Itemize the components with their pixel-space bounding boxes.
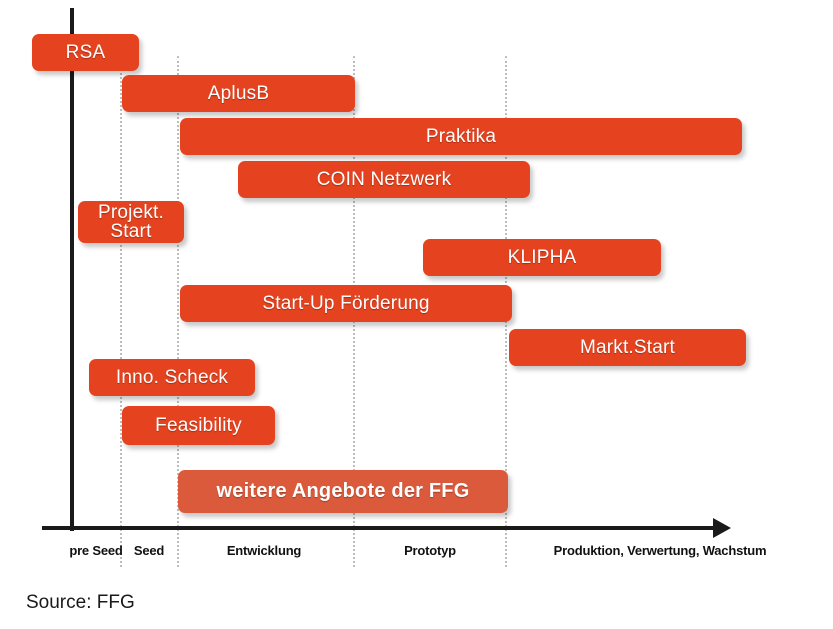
bar-rsa[interactable]: RSA — [32, 34, 139, 71]
bar-label: Feasibility — [149, 416, 248, 435]
bar-markt-start[interactable]: Markt.Start — [509, 329, 746, 366]
tick-text: Seed — [134, 543, 164, 558]
bar-inno-scheck[interactable]: Inno. Scheck — [89, 359, 255, 396]
x-tick-label-entwicklung: Entwicklung — [184, 543, 344, 558]
bar-klipha[interactable]: KLIPHA — [423, 239, 661, 276]
x-tick-label-produktion-verwertung-wachstum: Produktion, Verwertung, Wachstum — [530, 543, 790, 558]
bar-label: COIN Netzwerk — [311, 170, 458, 189]
bar-label: Praktika — [420, 127, 502, 146]
bar-label: RSA — [60, 43, 112, 62]
bar-label: AplusB — [202, 84, 275, 103]
source-caption: Source: FFG — [26, 592, 135, 614]
tick-text: Entwicklung — [227, 543, 301, 558]
bar-feasibility[interactable]: Feasibility — [122, 406, 275, 445]
chart-plot-area: RSA AplusB Praktika COIN Netzwerk Projek… — [0, 0, 833, 575]
source-caption-text: Source: FFG — [26, 592, 135, 613]
bar-label: KLIPHA — [502, 248, 583, 267]
bar-label: Projekt. Start — [92, 203, 170, 242]
bar-praktika[interactable]: Praktika — [180, 118, 742, 155]
tick-text: Produktion, Verwertung, Wachstum — [554, 543, 767, 558]
bar-aplusb[interactable]: AplusB — [122, 75, 355, 112]
x-tick-label-seed: Seed — [109, 543, 189, 558]
bar-label: weitere Angebote der FFG — [211, 481, 476, 501]
bar-projekt-start[interactable]: Projekt. Start — [78, 201, 184, 243]
bar-coin-netzwerk[interactable]: COIN Netzwerk — [238, 161, 530, 198]
bar-label: Markt.Start — [574, 338, 681, 357]
x-axis-arrow-icon — [713, 518, 731, 538]
bar-label: Start-Up Förderung — [256, 294, 435, 313]
bar-label: Inno. Scheck — [110, 368, 234, 387]
x-axis-line — [42, 526, 722, 530]
funding-timeline-chart: RSA AplusB Praktika COIN Netzwerk Projek… — [0, 0, 833, 629]
tick-text: Prototyp — [404, 543, 456, 558]
bar-start-up-foerderung[interactable]: Start-Up Förderung — [180, 285, 512, 322]
bar-weitere-angebote-der-ffg[interactable]: weitere Angebote der FFG — [178, 470, 508, 513]
y-axis-line — [70, 8, 74, 531]
gridline-seed-start — [120, 56, 122, 567]
x-tick-label-prototyp: Prototyp — [350, 543, 510, 558]
